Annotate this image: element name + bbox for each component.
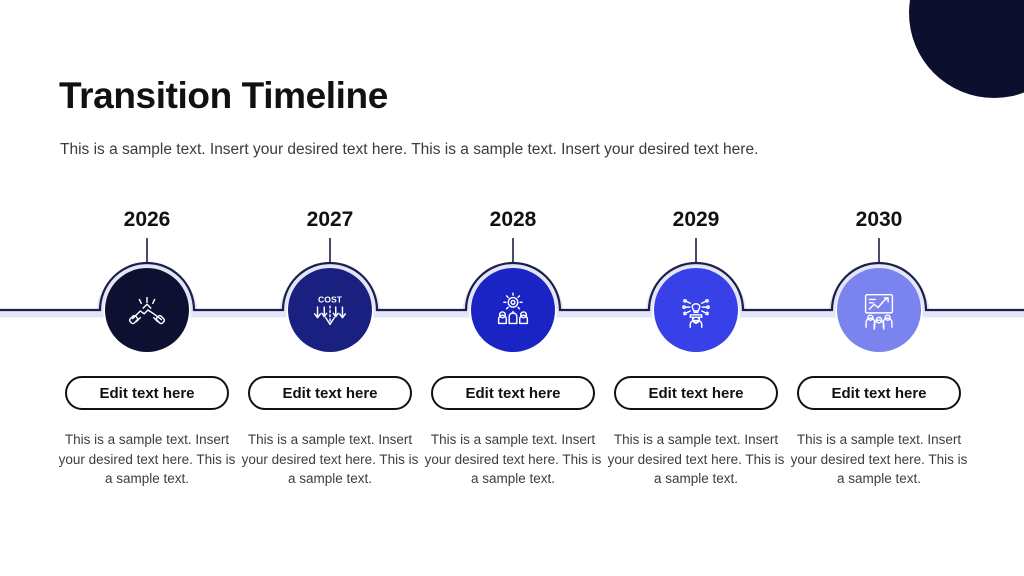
milestone-year: 2026 — [57, 208, 237, 232]
milestone-icon-circle[interactable]: COST — [288, 268, 372, 352]
team-gear-icon — [490, 287, 536, 333]
cost-reduction-icon: COST — [307, 287, 353, 333]
milestone-edit-button[interactable]: Edit text here — [431, 376, 595, 410]
presentation-growth-icon — [856, 287, 902, 333]
milestone-description: This is a sample text. Insert your desir… — [423, 430, 603, 489]
milestone-year: 2028 — [423, 208, 603, 232]
page-title: Transition Timeline — [59, 76, 388, 117]
milestone-edit-button[interactable]: Edit text here — [797, 376, 961, 410]
milestone-description: This is a sample text. Insert your desir… — [606, 430, 786, 489]
milestone-description: This is a sample text. Insert your desir… — [240, 430, 420, 489]
milestone-icon-circle[interactable] — [105, 268, 189, 352]
milestone-edit-button[interactable]: Edit text here — [248, 376, 412, 410]
innovation-person-icon — [673, 287, 719, 333]
milestone-year: 2029 — [606, 208, 786, 232]
milestone-icon-circle[interactable] — [837, 268, 921, 352]
page-subtitle: This is a sample text. Insert your desir… — [60, 140, 758, 160]
milestone-edit-button[interactable]: Edit text here — [614, 376, 778, 410]
milestone-description: This is a sample text. Insert your desir… — [57, 430, 237, 489]
milestone-description: This is a sample text. Insert your desir… — [789, 430, 969, 489]
milestone-icon-circle[interactable] — [654, 268, 738, 352]
milestone-edit-button[interactable]: Edit text here — [65, 376, 229, 410]
handshake-icon — [124, 287, 170, 333]
corner-decoration-circle — [909, 0, 1024, 98]
svg-text:COST: COST — [318, 294, 343, 304]
milestone-year: 2030 — [789, 208, 969, 232]
milestone-year: 2027 — [240, 208, 420, 232]
milestone-icon-circle[interactable] — [471, 268, 555, 352]
slide-canvas: Transition Timeline This is a sample tex… — [0, 0, 1024, 576]
